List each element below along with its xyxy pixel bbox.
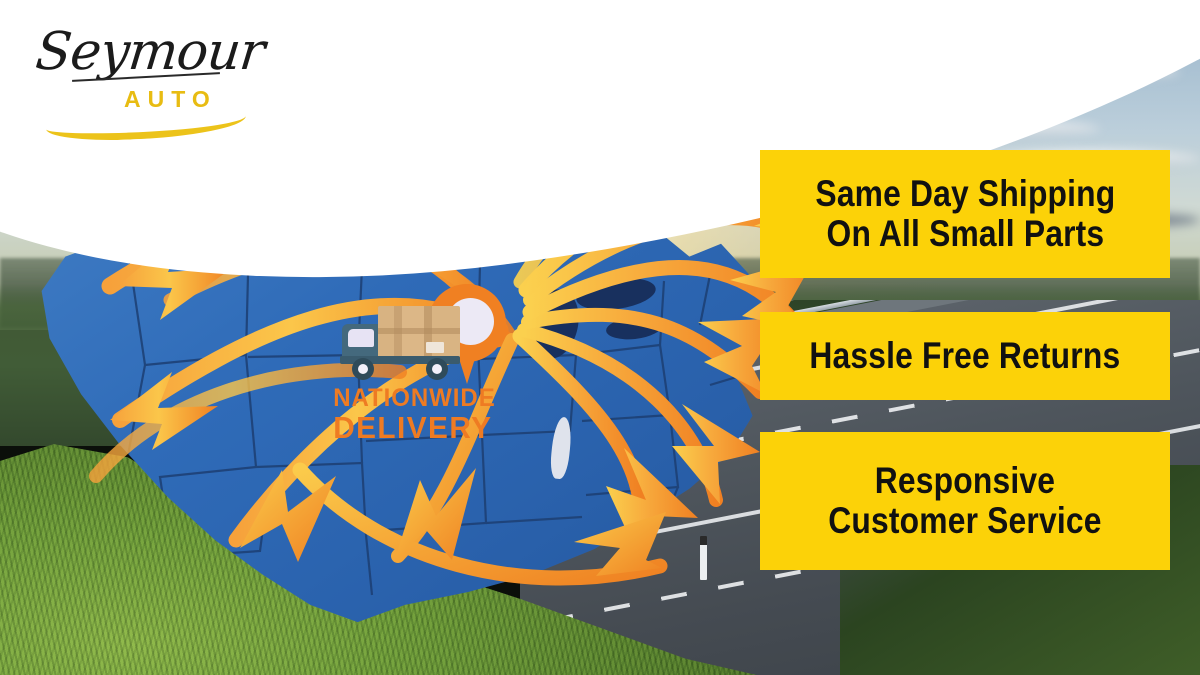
logo-script-text: Seymour <box>33 22 267 82</box>
nationwide-delivery-callout: NATIONWIDE DELIVERY <box>330 282 510 442</box>
nationwide-label: NATIONWIDE <box>333 386 487 411</box>
feature-banner-text: Responsive Customer Service <box>828 461 1101 541</box>
feature-banner-text: Hassle Free Returns <box>810 336 1121 376</box>
feature-banner-responsive-customer-service[interactable]: Responsive Customer Service <box>760 432 1170 570</box>
delivery-label: DELIVERY <box>333 411 487 445</box>
cloud <box>900 62 1180 82</box>
seymour-auto-logo[interactable]: Seymour AUTO <box>28 18 278 128</box>
cloud <box>760 118 1100 140</box>
feature-banner-hassle-free-returns[interactable]: Hassle Free Returns <box>760 312 1170 400</box>
cloud <box>560 92 860 118</box>
nationwide-delivery-text: NATIONWIDE DELIVERY <box>330 386 490 445</box>
feature-banner-same-day-shipping[interactable]: Same Day Shipping On All Small Parts <box>760 150 1170 278</box>
promo-banner: Seymour AUTO NATIONWIDE DELIVERY Same Da… <box>0 0 1200 675</box>
delivery-truck-icon <box>340 306 468 384</box>
feature-banner-text: Same Day Shipping On All Small Parts <box>815 174 1115 254</box>
